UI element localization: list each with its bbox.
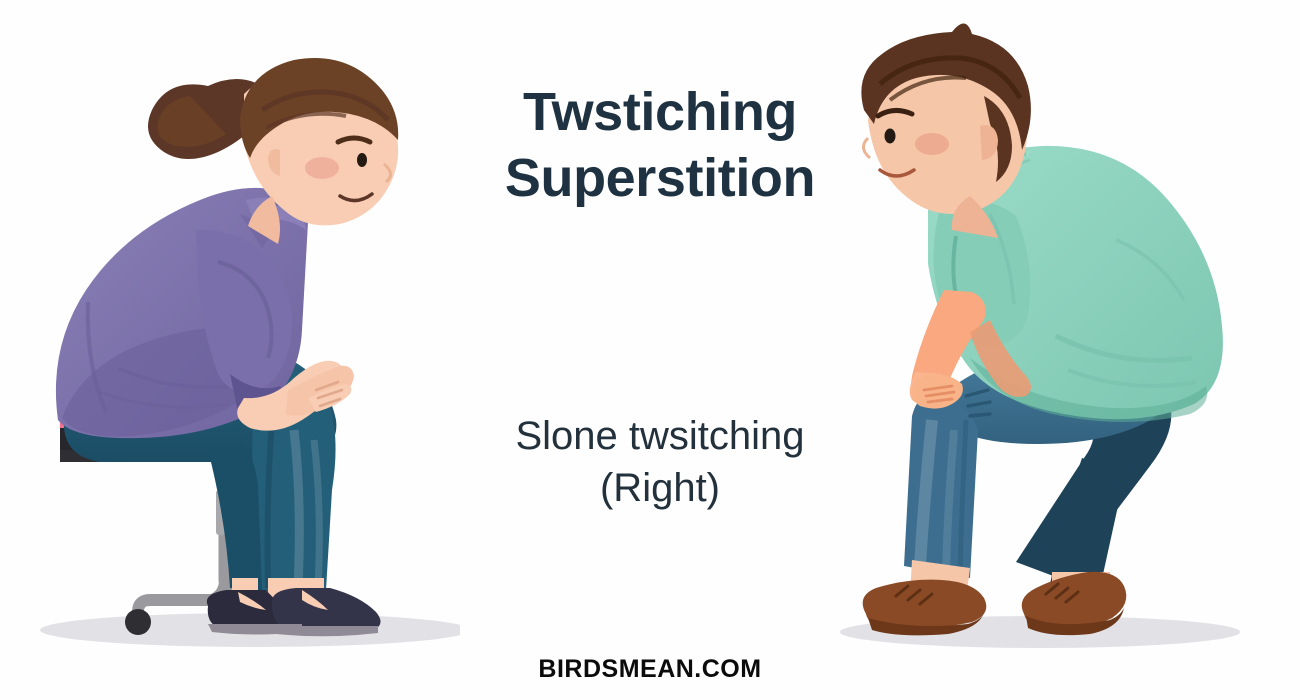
headline-block: Twstiching Superstition <box>430 80 890 212</box>
woman-shoes <box>207 578 381 636</box>
cheek-blush <box>305 157 339 179</box>
cheek-blush <box>915 133 949 155</box>
man-front-shoe <box>863 560 987 635</box>
man-back-shoe <box>1022 572 1127 635</box>
seated-woman-illustration <box>40 0 460 700</box>
page-title: Twstiching Superstition <box>430 80 890 212</box>
site-watermark: BIRDSMEAN.COM <box>0 655 1300 684</box>
poster-canvas: Twstiching Superstition Slone twsitching… <box>0 0 1300 700</box>
stool-caster-left <box>125 609 151 635</box>
page-subtitle: Slone twsitching (Right) <box>430 410 890 514</box>
